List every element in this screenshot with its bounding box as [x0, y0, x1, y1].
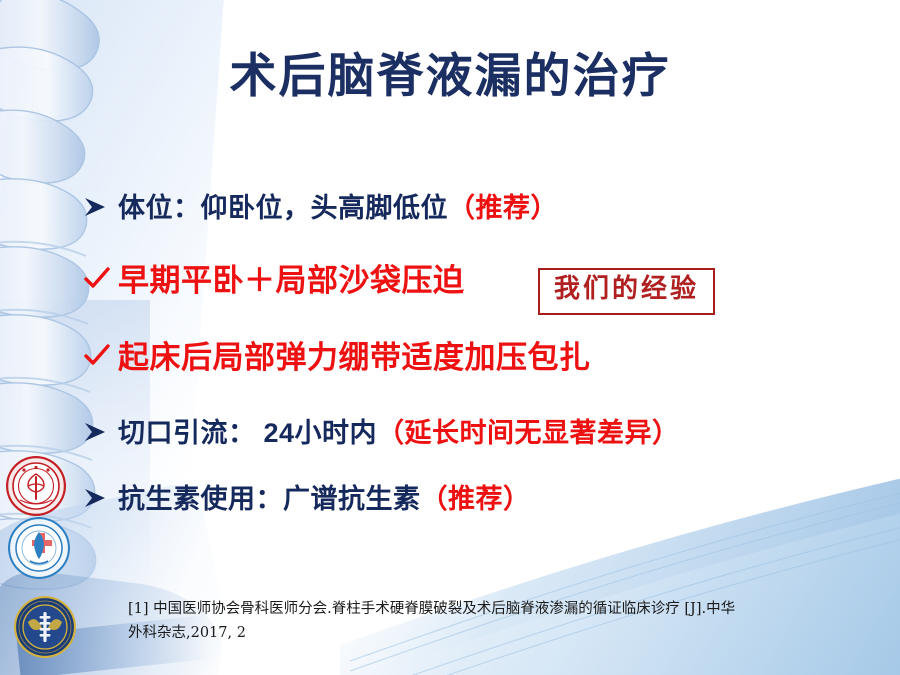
citation-line-1: [1] 中国医师协会骨科医师分会.脊柱手术硬脊膜破裂及术后脑脊液渗漏的循证临床诊…	[128, 598, 828, 622]
bullet-accent-position: （推荐）	[448, 193, 558, 223]
bullet-item-drainage: 切口引流： 24小时内（延长时间无显著差异）	[84, 411, 874, 450]
spine-institute-emblem	[14, 596, 76, 658]
slide-title: 术后脑脊液漏的治疗	[0, 50, 900, 102]
bullet-item-elastic-bandage: 起床后局部弹力绷带适度加压包扎	[84, 332, 874, 377]
bullet-text-antibiotics: 抗生素使用：广谱抗生素（推荐）	[118, 477, 531, 516]
bullet-item-early-supine: 早期平卧＋局部沙袋压迫	[84, 255, 874, 300]
arrow-bullet-icon	[84, 488, 118, 508]
bullet-item-antibiotics: 抗生素使用：广谱抗生素（推荐）	[84, 477, 874, 516]
bullet-text-position: 体位：仰卧位，头高脚低位（推荐）	[118, 186, 558, 225]
military-medical-university-emblem	[6, 456, 66, 516]
bullet-accent-drainage: （延长时间无显著差异）	[377, 418, 680, 448]
bullet-accent-antibiotics: （推荐）	[421, 484, 531, 514]
bullet-list: 体位：仰卧位，头高脚低位（推荐） 早期平卧＋局部沙袋压迫 起床后局部弹力绷带适度…	[84, 186, 874, 516]
arrow-bullet-icon	[84, 197, 118, 217]
arrow-bullet-icon	[84, 422, 118, 442]
bullet-text-drainage: 切口引流： 24小时内（延长时间无显著差异）	[118, 411, 680, 450]
check-bullet-icon	[84, 344, 118, 368]
bullet-text-elastic-bandage: 起床后局部弹力绷带适度加压包扎	[118, 332, 591, 377]
our-experience-callout: 我们的经验	[538, 268, 715, 315]
citation-reference: [1] 中国医师协会骨科医师分会.脊柱手术硬脊膜破裂及术后脑脊液渗漏的循证临床诊…	[128, 598, 828, 646]
presentation-slide: 术后脑脊液漏的治疗 体位：仰卧位，头高脚低位（推荐） 早期平卧＋局部沙袋压迫	[0, 0, 900, 675]
bullet-item-position: 体位：仰卧位，头高脚低位（推荐）	[84, 186, 874, 225]
bullet-text-early-supine: 早期平卧＋局部沙袋压迫	[118, 255, 465, 300]
hospital-emblem	[8, 517, 70, 579]
citation-line-2: 外科杂志,2017, 2	[128, 622, 828, 646]
check-bullet-icon	[84, 267, 118, 291]
